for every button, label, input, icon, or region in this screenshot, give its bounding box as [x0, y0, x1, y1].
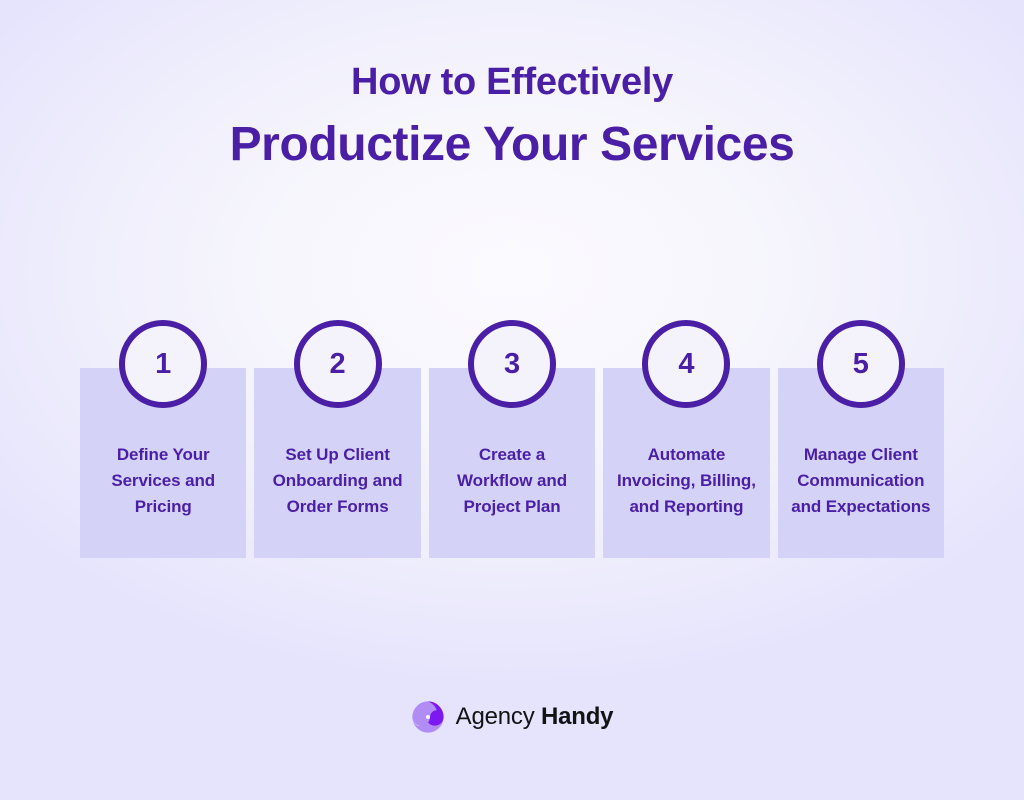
step-label-5: Manage Client Communication and Expectat…	[783, 442, 938, 520]
step-card-4: 4 Automate Invoicing, Billing, and Repor…	[603, 368, 769, 558]
steps-strip: 1 Define Your Services and Pricing 2 Set…	[80, 368, 944, 558]
step-number-badge-5: 5	[817, 320, 905, 408]
infographic-canvas: How to Effectively Productize Your Servi…	[0, 0, 1024, 800]
step-label-1: Define Your Services and Pricing	[103, 442, 223, 520]
step-number-badge-3: 3	[468, 320, 556, 408]
step-number-2: 2	[330, 350, 346, 379]
page-title: How to Effectively Productize Your Servi…	[0, 56, 1024, 176]
brand-logo: Agency Handy	[0, 700, 1024, 734]
brand-wordmark: Agency Handy	[456, 700, 614, 734]
step-number-3: 3	[504, 350, 520, 379]
step-card-3: 3 Create a Workflow and Project Plan	[429, 368, 595, 558]
agency-handy-swirl-logo-icon	[411, 700, 445, 734]
step-number-badge-2: 2	[294, 320, 382, 408]
step-card-1: 1 Define Your Services and Pricing	[80, 368, 246, 558]
step-number-badge-1: 1	[119, 320, 207, 408]
step-label-2: Set Up Client Onboarding and Order Forms	[265, 442, 411, 520]
step-card-5: 5 Manage Client Communication and Expect…	[778, 368, 944, 558]
step-number-4: 4	[678, 350, 694, 379]
step-number-1: 1	[155, 350, 171, 379]
page-title-line-1: How to Effectively	[0, 56, 1024, 108]
page-title-line-2: Productize Your Services	[0, 114, 1024, 176]
brand-word-agency: Agency	[456, 703, 535, 730]
step-label-4: Automate Invoicing, Billing, and Reporti…	[609, 442, 764, 520]
brand-word-handy: Handy	[541, 703, 613, 730]
step-number-5: 5	[853, 350, 869, 379]
step-card-2: 2 Set Up Client Onboarding and Order For…	[254, 368, 420, 558]
step-label-3: Create a Workflow and Project Plan	[449, 442, 575, 520]
step-number-badge-4: 4	[642, 320, 730, 408]
